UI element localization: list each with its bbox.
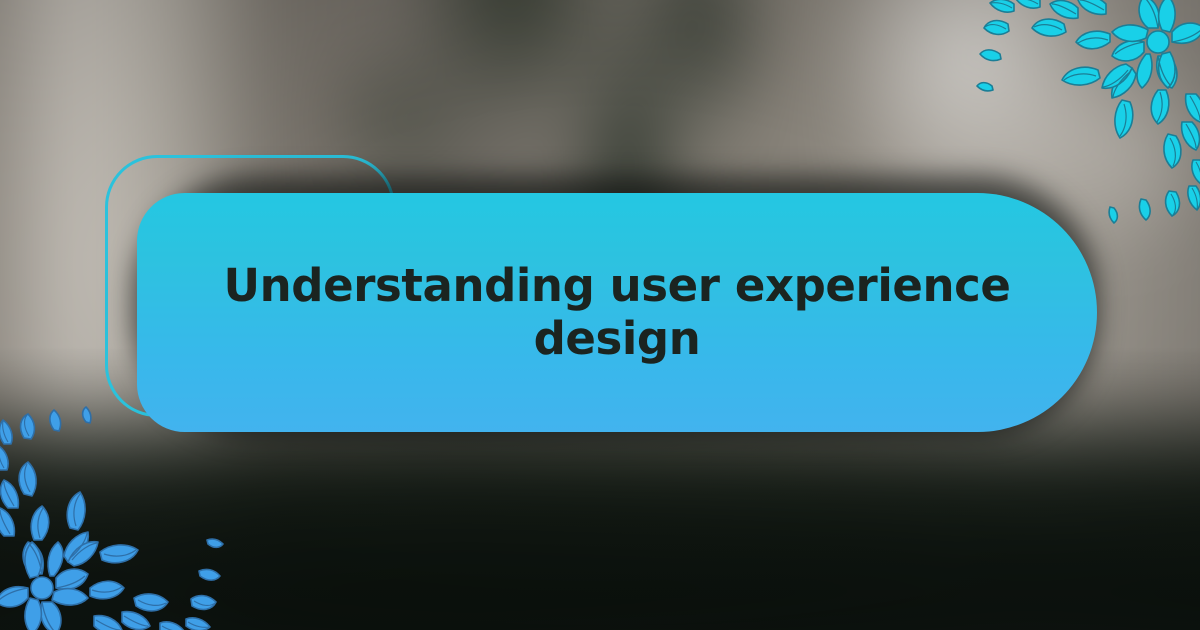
page-title: Understanding user experience design	[193, 260, 1041, 364]
title-card-stack: Understanding user experience design	[0, 0, 1200, 630]
title-card: Understanding user experience design	[137, 193, 1097, 432]
share-card-canvas: Understanding user experience design	[0, 0, 1200, 630]
